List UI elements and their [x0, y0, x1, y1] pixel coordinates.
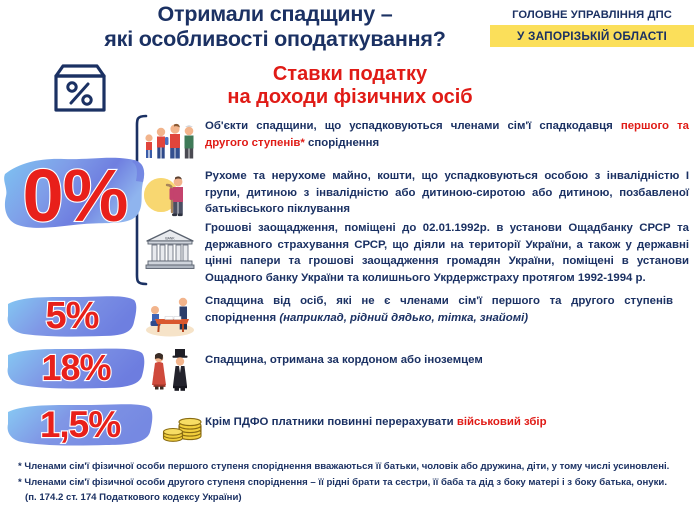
- rate-badge-5-value: 5%: [46, 297, 99, 335]
- item-1-text-b: споріднення: [305, 137, 379, 149]
- treasure-box-percent-icon: [48, 62, 112, 114]
- subtitle: Ставки податку на доходи фізичних осіб: [140, 63, 560, 109]
- rate-badge-18-value: 18%: [41, 350, 110, 386]
- item-5-text: Спадщина, отримана за кордоном або інозе…: [205, 354, 483, 366]
- page-title-line2: які особливості оподаткування?: [55, 27, 495, 52]
- rate-badge-0-value: 0%: [23, 159, 128, 233]
- item-1-text-a: Об'єкти спадщини, що успадковуються член…: [205, 120, 621, 132]
- organization-name: ГОЛОВНЕ УПРАВЛІННЯ ДПС: [490, 8, 694, 22]
- page-title: Отримали спадщину – які особливості опод…: [55, 2, 495, 52]
- page-title-line1: Отримали спадщину –: [157, 2, 392, 26]
- foreigner-couple-icon: [146, 348, 194, 394]
- footnote-line-2: * Членами сім'ї фізичної особи другого с…: [18, 475, 690, 491]
- header: Отримали спадщину – які особливості опод…: [0, 0, 700, 56]
- rate-badge-15: 1,5%: [6, 400, 154, 448]
- family-group-icon: [141, 121, 199, 163]
- person-with-disability-icon: [141, 173, 199, 217]
- item-text-1: Об'єкти спадщини, що успадковуються член…: [205, 118, 689, 151]
- rate-badge-15-value: 1,5%: [40, 406, 120, 443]
- item-2-text: Рухоме та нерухоме майно, кошти, що успа…: [205, 170, 689, 215]
- subtitle-line2: на доходи фізичних осіб: [227, 86, 472, 108]
- rate-badge-0: 0%: [2, 148, 148, 244]
- footnotes: * Членами сім'ї фізичної особи першого с…: [18, 459, 690, 506]
- footnote-legal-reference: (п. 174.2 ст. 174 Податкового кодексу Ук…: [18, 490, 690, 506]
- infographic-page: Отримали спадщину – які особливості опод…: [0, 0, 700, 509]
- bank-building-icon: BANK: [145, 228, 195, 270]
- item-text-3: Грошові заощадження, поміщені до 02.01.1…: [205, 220, 689, 286]
- meeting-table-icon: [141, 294, 199, 338]
- rate-badge-5: 5%: [6, 292, 138, 340]
- item-text-2: Рухоме та нерухоме майно, кошти, що успа…: [205, 168, 689, 218]
- svg-text:BANK: BANK: [165, 237, 175, 241]
- item-6-text-a: Крім ПДФО платники повинні перерахувати: [205, 416, 457, 428]
- region-badge: У ЗАПОРІЗЬКІЙ ОБЛАСТІ: [490, 25, 694, 47]
- item-3-text: Грошові заощадження, поміщені до 02.01.1…: [205, 222, 689, 284]
- item-text-4: Спадщина від осіб, які не є членами сім'…: [205, 293, 673, 326]
- item-4-text-example: (наприклад, рідний дядько, тітка, знайом…: [279, 312, 528, 324]
- organization-block: ГОЛОВНЕ УПРАВЛІННЯ ДПС У ЗАПОРІЗЬКІЙ ОБЛ…: [490, 8, 694, 47]
- rate-badge-18: 18%: [6, 345, 146, 391]
- item-text-5: Спадщина, отримана за кордоном або інозе…: [205, 352, 675, 369]
- footnote-line-1: * Членами сім'ї фізичної особи першого с…: [18, 459, 690, 475]
- subtitle-line1: Ставки податку: [273, 63, 427, 85]
- item-text-6: Крім ПДФО платники повинні перерахувати …: [205, 414, 675, 431]
- coin-stack-icon: [160, 404, 208, 444]
- item-6-text-highlight: військовий збір: [457, 416, 547, 428]
